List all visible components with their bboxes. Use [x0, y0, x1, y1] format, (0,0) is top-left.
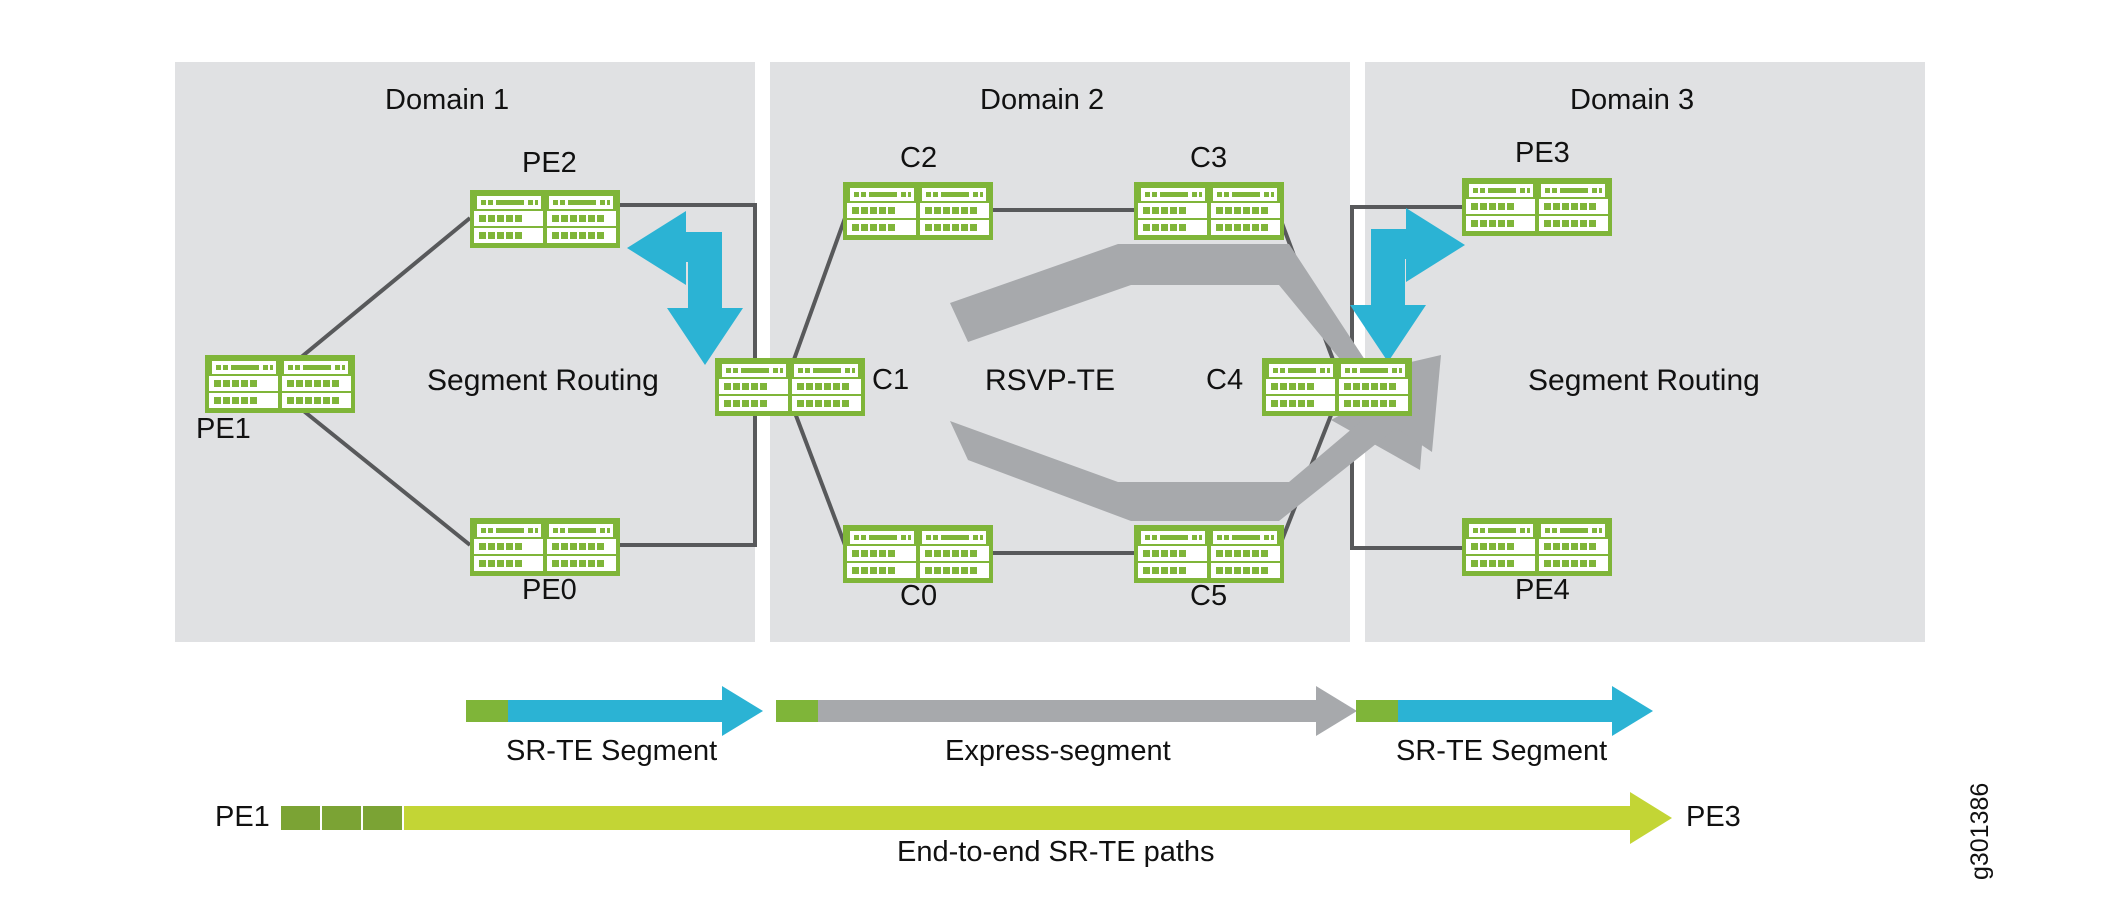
router-C4[interactable] [1262, 358, 1412, 416]
node-label-PE1: PE1 [196, 415, 251, 444]
diagram-graphics [0, 0, 2101, 915]
domain-title-2: Domain 2 [980, 86, 1104, 115]
router-C1[interactable] [715, 358, 865, 416]
endtoend-start-label: PE1 [215, 803, 270, 832]
legend-label-0: SR-TE Segment [506, 737, 717, 766]
node-label-PE4: PE4 [1515, 576, 1570, 605]
router-C0[interactable] [843, 525, 993, 583]
domain-panel-3 [1365, 62, 1925, 642]
legend-arrow-0 [466, 686, 763, 736]
router-C5[interactable] [1134, 525, 1284, 583]
node-label-C2: C2 [900, 144, 937, 173]
legend-label-1: Express-segment [945, 737, 1171, 766]
router-PE1[interactable] [205, 355, 355, 413]
figure-id: g301386 [1966, 783, 1995, 880]
router-C2[interactable] [843, 182, 993, 240]
node-label-C1: C1 [872, 366, 909, 395]
router-PE3[interactable] [1462, 178, 1612, 236]
legend-arrows [466, 686, 1653, 736]
node-label-PE0: PE0 [522, 576, 577, 605]
router-PE2[interactable] [470, 190, 620, 248]
area-label-domain-1: Segment Routing [427, 366, 659, 396]
node-label-C0: C0 [900, 582, 937, 611]
legend-arrow-1 [776, 686, 1357, 736]
endtoend-end-label: PE3 [1686, 803, 1741, 832]
endtoend-caption: End-to-end SR-TE paths [897, 838, 1215, 867]
node-label-C4: C4 [1206, 366, 1243, 395]
domain-title-1: Domain 1 [385, 86, 509, 115]
node-label-C3: C3 [1190, 144, 1227, 173]
diagram-canvas: Domain 1 Domain 2 Domain 3 Segment Routi… [0, 0, 2101, 915]
legend-arrow-2 [1356, 686, 1653, 736]
router-PE0[interactable] [470, 518, 620, 576]
node-label-PE3: PE3 [1515, 139, 1570, 168]
legend-label-2: SR-TE Segment [1396, 737, 1607, 766]
router-PE4[interactable] [1462, 518, 1612, 576]
domain-title-3: Domain 3 [1570, 86, 1694, 115]
domain-panel-1 [175, 62, 755, 642]
node-label-PE2: PE2 [522, 149, 577, 178]
router-C3[interactable] [1134, 182, 1284, 240]
area-label-domain-3: Segment Routing [1528, 366, 1760, 396]
node-label-C5: C5 [1190, 582, 1227, 611]
area-label-domain-2: RSVP-TE [985, 366, 1115, 396]
